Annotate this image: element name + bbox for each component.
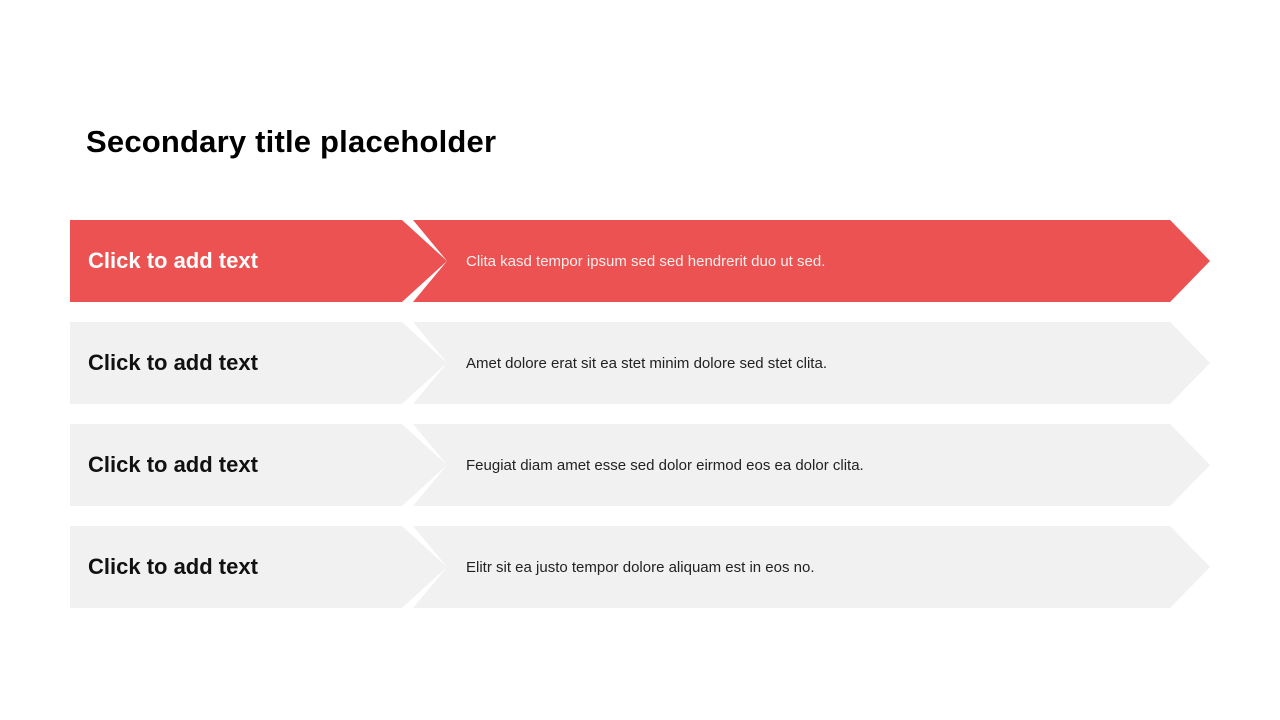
chevron-body-block-1[interactable]: Clita kasd tempor ipsum sed sed hendreri… (413, 220, 1210, 302)
chevron-label-block-3[interactable]: Click to add text (70, 424, 447, 506)
chevron-body-block-4[interactable]: Elitr sit ea justo tempor dolore aliquam… (413, 526, 1210, 608)
list-item: Click to add text Amet dolore erat sit e… (0, 322, 1280, 404)
chevron-label-3[interactable]: Click to add text (70, 452, 258, 478)
list-item: Click to add text Clita kasd tempor ipsu… (0, 220, 1280, 302)
slide-canvas: Secondary title placeholder Click to add… (0, 0, 1280, 720)
chevron-label-1[interactable]: Click to add text (70, 248, 258, 274)
chevron-body-block-2[interactable]: Amet dolore erat sit ea stet minim dolor… (413, 322, 1210, 404)
chevron-body-3[interactable]: Feugiat diam amet esse sed dolor eirmod … (413, 457, 864, 474)
list-item: Click to add text Feugiat diam amet esse… (0, 424, 1280, 506)
chevron-label-4[interactable]: Click to add text (70, 554, 258, 580)
chevron-body-4[interactable]: Elitr sit ea justo tempor dolore aliquam… (413, 559, 815, 576)
chevron-label-block-2[interactable]: Click to add text (70, 322, 447, 404)
chevron-body-block-3[interactable]: Feugiat diam amet esse sed dolor eirmod … (413, 424, 1210, 506)
chevron-list: Click to add text Clita kasd tempor ipsu… (0, 220, 1280, 608)
list-item: Click to add text Elitr sit ea justo tem… (0, 526, 1280, 608)
chevron-label-block-1[interactable]: Click to add text (70, 220, 447, 302)
page-title[interactable]: Secondary title placeholder (86, 124, 496, 160)
chevron-label-2[interactable]: Click to add text (70, 350, 258, 376)
chevron-label-block-4[interactable]: Click to add text (70, 526, 447, 608)
chevron-body-1[interactable]: Clita kasd tempor ipsum sed sed hendreri… (413, 253, 825, 270)
chevron-body-2[interactable]: Amet dolore erat sit ea stet minim dolor… (413, 355, 827, 372)
